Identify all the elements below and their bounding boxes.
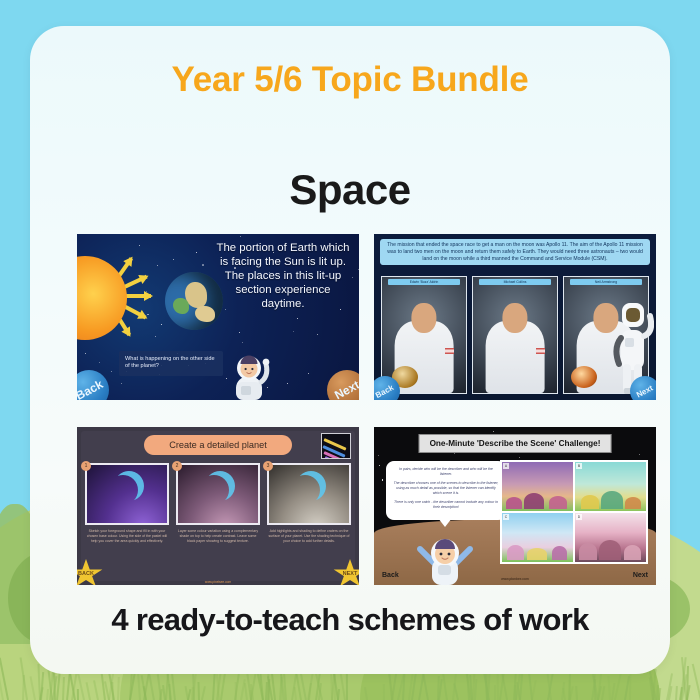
scene-letter: C — [503, 514, 509, 520]
step-image — [267, 463, 351, 525]
slide4-back-button[interactable]: Back — [382, 572, 399, 579]
slide-thumbnail-earth-daytime[interactable]: The portion of Earth which is facing the… — [77, 234, 359, 400]
step-image — [176, 463, 260, 525]
slide2-next-label: Next — [635, 383, 655, 399]
astronaut-photo: Michael Collins — [472, 276, 558, 394]
scene-image[interactable]: D — [575, 513, 646, 562]
slide-thumbnail-describe-scene[interactable]: One-Minute 'Describe the Scene' Challeng… — [374, 427, 656, 585]
page-title: Year 5/6 Topic Bundle — [30, 60, 670, 100]
astronaut-photo: Edwin 'Buzz' Aldrin — [381, 276, 467, 394]
slide-thumbnail-create-planet[interactable]: Create a detailed planet 1 Sketch your f… — [77, 427, 359, 585]
slide2-back-label: Back — [374, 383, 395, 400]
slide2-banner-text: The mission that ended the space race to… — [380, 239, 650, 265]
step-image — [85, 463, 169, 525]
slide4-url: www.planbee.com — [501, 577, 529, 581]
slide1-question: What is happening on the other side of t… — [119, 351, 223, 376]
step-caption: Sketch your foreground shape and fill in… — [85, 529, 169, 543]
bubble-tail — [438, 518, 452, 527]
step-caption: Layer some colour variation using a comp… — [176, 529, 260, 543]
scene-grid: A B C — [500, 460, 648, 564]
slide-gallery: The portion of Earth which is facing the… — [48, 226, 652, 596]
subject-title: Space — [30, 166, 670, 214]
slide3-next-label: NEXT — [343, 571, 358, 577]
scene-letter: D — [576, 514, 582, 520]
scene-image[interactable]: B — [575, 462, 646, 511]
bubble-paragraph: In pairs, decide who will be the describ… — [393, 467, 499, 477]
slide1-back-label: Back — [77, 377, 105, 400]
step-item: 2 Layer some colour variation using a co… — [176, 463, 260, 575]
slide3-back-label: BACK — [78, 571, 94, 577]
astronaut-name-label: Edwin 'Buzz' Aldrin — [388, 279, 460, 285]
footer-tagline: 4 ready-to-teach schemes of work — [30, 602, 670, 638]
slide3-title: Create a detailed planet — [144, 435, 292, 455]
step-caption: Add highlights and shading to define cra… — [267, 529, 351, 543]
step-item: 3 Add highlights and shading to define c… — [267, 463, 351, 575]
astronaut-name-label: Michael Collins — [479, 279, 551, 285]
step-number: 1 — [81, 461, 91, 471]
poster-card: Year 5/6 Topic Bundle Space The portio — [30, 26, 670, 674]
astronaut-illustration — [227, 342, 273, 400]
pastels-image — [321, 433, 351, 459]
poster-root: Year 5/6 Topic Bundle Space The portio — [0, 0, 700, 700]
slide4-title: One-Minute 'Describe the Scene' Challeng… — [419, 434, 612, 453]
slide4-speech-bubble: In pairs, decide who will be the describ… — [386, 461, 506, 520]
slide-thumbnail-apollo-11[interactable]: The mission that ended the space race to… — [374, 234, 656, 400]
step-item: 1 Sketch your foreground shape and fill … — [85, 463, 169, 575]
scene-letter: A — [503, 463, 509, 469]
step-number: 2 — [172, 461, 182, 471]
slide1-next-label: Next — [332, 378, 359, 400]
step-number: 3 — [263, 461, 273, 471]
slide2-next-button[interactable]: Next — [630, 376, 656, 400]
bubble-paragraph: The describer chooses one of the scenes … — [393, 481, 499, 496]
astronaut-illustration — [416, 531, 474, 585]
step-list: 1 Sketch your foreground shape and fill … — [85, 463, 351, 575]
slide4-next-button[interactable]: Next — [633, 572, 648, 579]
astronaut-photo-row: Edwin 'Buzz' Aldrin Michael Collins Neil… — [381, 276, 649, 394]
scene-image[interactable]: A — [502, 462, 573, 511]
slide3-url: www.pixelsee.com — [77, 580, 359, 584]
bubble-paragraph: There is only one catch - the describer … — [393, 500, 499, 510]
scene-image[interactable]: C — [502, 513, 573, 562]
scene-letter: B — [576, 463, 582, 469]
astronaut-name-label: Neil Armstrong — [570, 279, 642, 285]
slide1-body-text: The portion of Earth which is facing the… — [213, 242, 353, 312]
